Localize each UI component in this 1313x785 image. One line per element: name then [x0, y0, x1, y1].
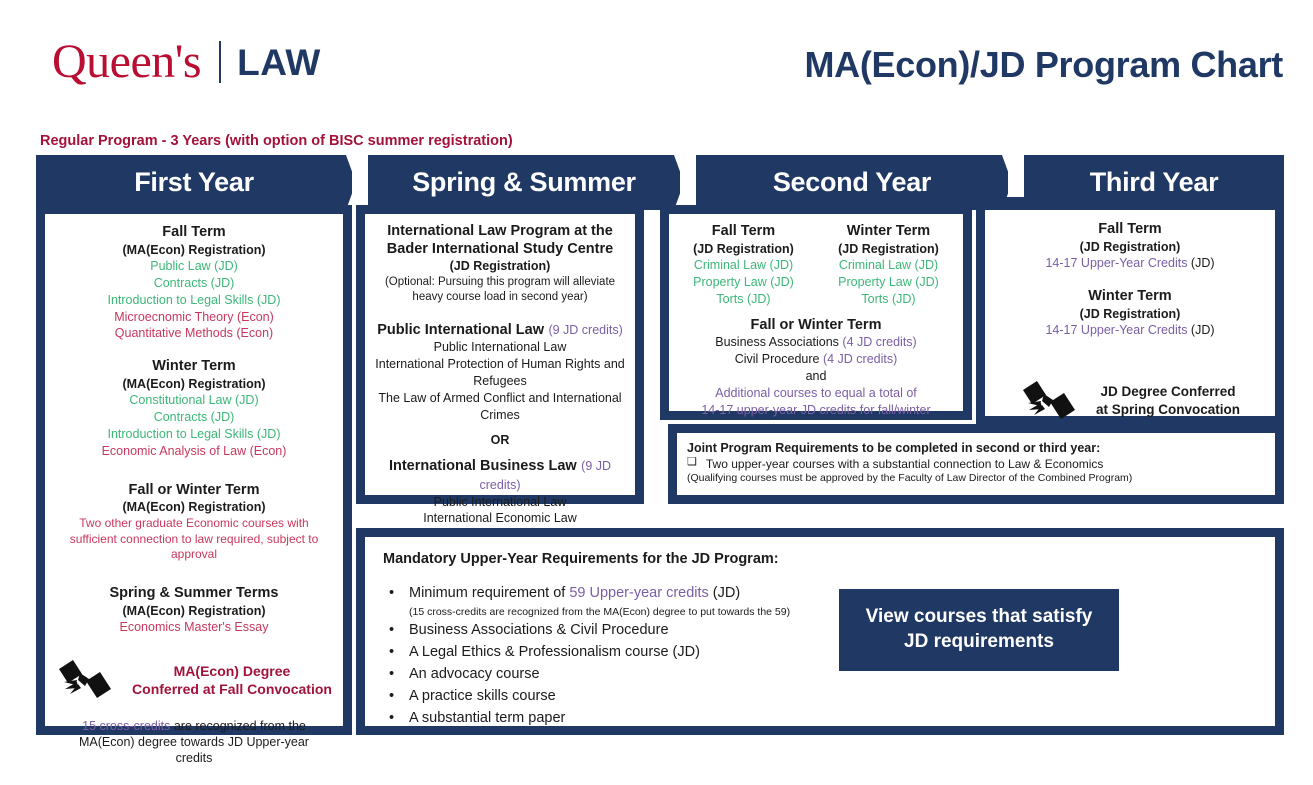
course-item: Microecnomic Theory (Econ) [53, 309, 335, 326]
second-fallorwinter-block: Fall or Winter Term Business Association… [675, 317, 957, 419]
crosscredit-highlight: 15 cross-credits [82, 719, 170, 733]
page-header: Queen's LAW MA(Econ)/JD Program Chart [0, 0, 1313, 125]
chevron-right-icon-1 [346, 155, 368, 210]
ilp-optional-note: (Optional: Pursuing this program will al… [372, 275, 628, 305]
spacer [53, 636, 335, 658]
brand-divider [219, 41, 221, 83]
credits-suffix: (JD) [1187, 256, 1214, 270]
first-fall-registration: (MA(Econ) Registration) [53, 242, 335, 258]
spacer [53, 342, 335, 358]
course-item: Contracts (JD) [53, 275, 335, 292]
second-fallorwinter-heading: Fall or Winter Term [675, 317, 957, 335]
jd-degree-line1: JD Degree Conferred [1096, 383, 1240, 401]
joint-item-label: Two upper-year courses with a substantia… [706, 457, 1104, 471]
view-button-line1: View courses that satisfy [866, 605, 1093, 630]
item1-prefix: Minimum requirement of [409, 585, 569, 601]
list-item: • A practice skills course [383, 686, 1257, 707]
first-fallorwinter-registration: (MA(Econ) Registration) [53, 499, 335, 515]
mandatory-item-label: A practice skills course [409, 686, 556, 707]
joint-requirements-item: ❑ Two upper-year courses with a substant… [687, 457, 1265, 471]
course-item: Quantitative Methods (Econ) [53, 325, 335, 342]
first-crosscredit-note: 15 cross-credits are recognized from the… [53, 718, 335, 767]
spring-summer-column: International Law Program at the Bader I… [362, 211, 638, 498]
page-title: MA(Econ)/JD Program Chart [804, 44, 1283, 86]
course-item: Public International Law [372, 494, 628, 511]
list-item: • Minimum requirement of 59 Upper-year c… [383, 583, 1257, 604]
third-fall-term-heading: Fall Term [993, 221, 1267, 239]
program-subtitle: Regular Program - 3 Years (with option o… [40, 133, 513, 149]
bullet-icon: • [383, 620, 409, 641]
bullet-icon: • [383, 686, 409, 707]
ma-degree-line2: Conferred at Fall Convocation [132, 680, 332, 698]
ilp-option-b-heading: International Business Law (9 JD credits… [372, 457, 628, 494]
second-winter-term-heading: Winter Term [820, 223, 957, 241]
spacer [993, 339, 1267, 379]
spacer [675, 308, 957, 317]
second-winter-term-block: Winter Term (JD Registration) Criminal L… [820, 223, 957, 308]
option-b-name: International Business Law [389, 458, 577, 474]
course-item: Torts (JD) [820, 291, 957, 308]
second-fall-term-block: Fall Term (JD Registration) Criminal Law… [675, 223, 812, 308]
bullet-icon: • [383, 583, 409, 604]
third-winter-registration: (JD Registration) [993, 306, 1267, 322]
mandatory-list: • Minimum requirement of 59 Upper-year c… [383, 583, 1257, 729]
third-winter-credits: 14-17 Upper-Year Credits (JD) [993, 322, 1267, 339]
banner-label: Spring & Summer [412, 167, 636, 198]
second-winter-registration: (JD Registration) [820, 241, 957, 257]
spacer [53, 702, 335, 718]
course-item: Economics Master's Essay [53, 619, 335, 636]
course-item: Introduction to Legal Skills (JD) [53, 292, 335, 309]
course-item: Criminal Law (JD) [820, 257, 957, 274]
third-year-column: Fall Term (JD Registration) 14-17 Upper-… [982, 207, 1278, 419]
brand-law-wordmark: LAW [237, 44, 321, 81]
banner-second-year: Second Year [696, 155, 1008, 210]
cp-credits: (4 JD credits) [823, 352, 897, 366]
option-a-name: Public International Law [377, 322, 544, 338]
mandatory-item-label: A substantial term paper [409, 708, 565, 729]
second-fall-term-heading: Fall Term [675, 223, 812, 241]
diploma-scroll-icon [56, 658, 116, 702]
ba-name: Business Associations [715, 335, 842, 349]
first-winter-term-heading: Winter Term [53, 358, 335, 376]
mandatory-item-1: Minimum requirement of 59 Upper-year cre… [409, 583, 740, 604]
ma-degree-line1: MA(Econ) Degree [132, 662, 332, 680]
course-item: Business Associations (4 JD credits) [675, 334, 957, 351]
course-item: Criminal Law (JD) [675, 257, 812, 274]
jd-degree-text: JD Degree Conferred at Spring Convocatio… [1096, 383, 1240, 419]
third-fall-registration: (JD Registration) [993, 239, 1267, 255]
course-item: International Economic Law [372, 510, 628, 527]
credits-suffix: (JD) [1187, 323, 1214, 337]
course-item: Civil Procedure (4 JD credits) [675, 351, 957, 368]
joint-requirements-title: Joint Program Requirements to be complet… [687, 441, 1265, 455]
banner-label: First Year [134, 167, 254, 198]
view-button-line2: JD requirements [866, 630, 1093, 655]
ilp-or-label: OR [372, 433, 628, 448]
third-winter-term-heading: Winter Term [993, 288, 1267, 306]
mandatory-title: Mandatory Upper-Year Requirements for th… [383, 551, 1257, 567]
bullet-icon: • [383, 664, 409, 685]
ilp-title-line1: International Law Program at the [372, 223, 628, 241]
course-item: Introduction to Legal Skills (JD) [53, 426, 335, 443]
course-item: Contracts (JD) [53, 409, 335, 426]
second-additional-line1: Additional courses to equal a total of [675, 385, 957, 402]
course-item: International Protection of Human Rights… [372, 356, 628, 390]
first-springsummer-heading: Spring & Summer Terms [53, 585, 335, 603]
list-item: • A Legal Ethics & Professionalism cours… [383, 642, 1257, 663]
spacer [372, 424, 628, 433]
ilp-registration: (JD Registration) [372, 258, 628, 274]
list-item: • A substantial term paper [383, 708, 1257, 729]
first-year-column: Fall Term (MA(Econ) Registration) Public… [42, 211, 346, 729]
spacer [53, 563, 335, 585]
bullet-icon: • [383, 708, 409, 729]
ma-degree-row: MA(Econ) Degree Conferred at Fall Convoc… [53, 658, 335, 702]
bullet-icon: • [383, 642, 409, 663]
course-item: Torts (JD) [675, 291, 812, 308]
ba-credits: (4 JD credits) [842, 335, 916, 349]
view-courses-button[interactable]: View courses that satisfy JD requirement… [839, 589, 1119, 671]
course-item: Property Law (JD) [820, 274, 957, 291]
course-item: The Law of Armed Conflict and Internatio… [372, 390, 628, 424]
list-item: • An advocacy course [383, 664, 1257, 685]
first-springsummer-registration: (MA(Econ) Registration) [53, 603, 335, 619]
first-fallorwinter-note: Two other graduate Economic courses with… [53, 516, 335, 563]
course-item: Public Law (JD) [53, 258, 335, 275]
checkbox-icon[interactable]: ❑ [687, 457, 697, 471]
third-fall-credits: 14-17 Upper-Year Credits (JD) [993, 255, 1267, 272]
banner-first-year: First Year [36, 155, 352, 210]
course-item: Constitutional Law (JD) [53, 392, 335, 409]
jd-degree-line2: at Spring Convocation [1096, 401, 1240, 419]
view-courses-button-text: View courses that satisfy JD requirement… [866, 605, 1093, 654]
first-fallorwinter-heading: Fall or Winter Term [53, 482, 335, 500]
mandatory-item-label: Business Associations & Civil Procedure [409, 620, 669, 641]
second-additional-line2: 14-17 upper-year JD credits for fall/win… [675, 402, 957, 419]
option-a-credits: (9 JD credits) [548, 323, 622, 337]
brand-queens-wordmark: Queen's [52, 38, 201, 86]
ilp-title-line2: Bader International Study Centre [372, 241, 628, 259]
banner-label: Second Year [773, 167, 931, 198]
banner-label: Third Year [1090, 167, 1219, 198]
banner-spring-summer: Spring & Summer [368, 155, 680, 210]
first-fall-term-heading: Fall Term [53, 224, 335, 242]
chevron-right-icon-2 [674, 155, 696, 210]
mandatory-item-1-note: (15 cross-credits are recognized from th… [383, 605, 1257, 620]
mandatory-item-label: An advocacy course [409, 664, 540, 685]
cp-name: Civil Procedure [735, 352, 823, 366]
queens-law-logo: Queen's LAW [52, 38, 321, 86]
credits-highlight: 14-17 Upper-Year Credits [1045, 323, 1187, 337]
first-winter-registration: (MA(Econ) Registration) [53, 376, 335, 392]
jd-degree-row: JD Degree Conferred at Spring Convocatio… [993, 379, 1267, 423]
credits-highlight: 14-17 Upper-Year Credits [1045, 256, 1187, 270]
joint-requirements-note: (Qualifying courses must be approved by … [687, 472, 1265, 484]
item1-highlight: 59 Upper-year credits [569, 585, 708, 601]
ma-degree-text: MA(Econ) Degree Conferred at Fall Convoc… [132, 662, 332, 698]
spacer [993, 272, 1267, 288]
spacer [372, 448, 628, 457]
joint-requirements-box: Joint Program Requirements to be complet… [674, 430, 1278, 498]
course-item: Public International Law [372, 339, 628, 356]
mandatory-item-label: A Legal Ethics & Professionalism course … [409, 642, 700, 663]
ilp-option-a-heading: Public International Law (9 JD credits) [372, 321, 628, 340]
diploma-scroll-icon [1020, 379, 1080, 423]
spacer [372, 305, 628, 321]
course-item: Property Law (JD) [675, 274, 812, 291]
spacer [53, 460, 335, 482]
course-item: Economic Analysis of Law (Econ) [53, 443, 335, 460]
item1-suffix: (JD) [709, 585, 740, 601]
second-year-terms-row: Fall Term (JD Registration) Criminal Law… [675, 223, 957, 308]
second-year-column: Fall Term (JD Registration) Criminal Law… [666, 211, 966, 414]
and-label: and [675, 368, 957, 385]
list-item: • Business Associations & Civil Procedur… [383, 620, 1257, 641]
second-fall-registration: (JD Registration) [675, 241, 812, 257]
mandatory-requirements-box: Mandatory Upper-Year Requirements for th… [362, 534, 1278, 729]
